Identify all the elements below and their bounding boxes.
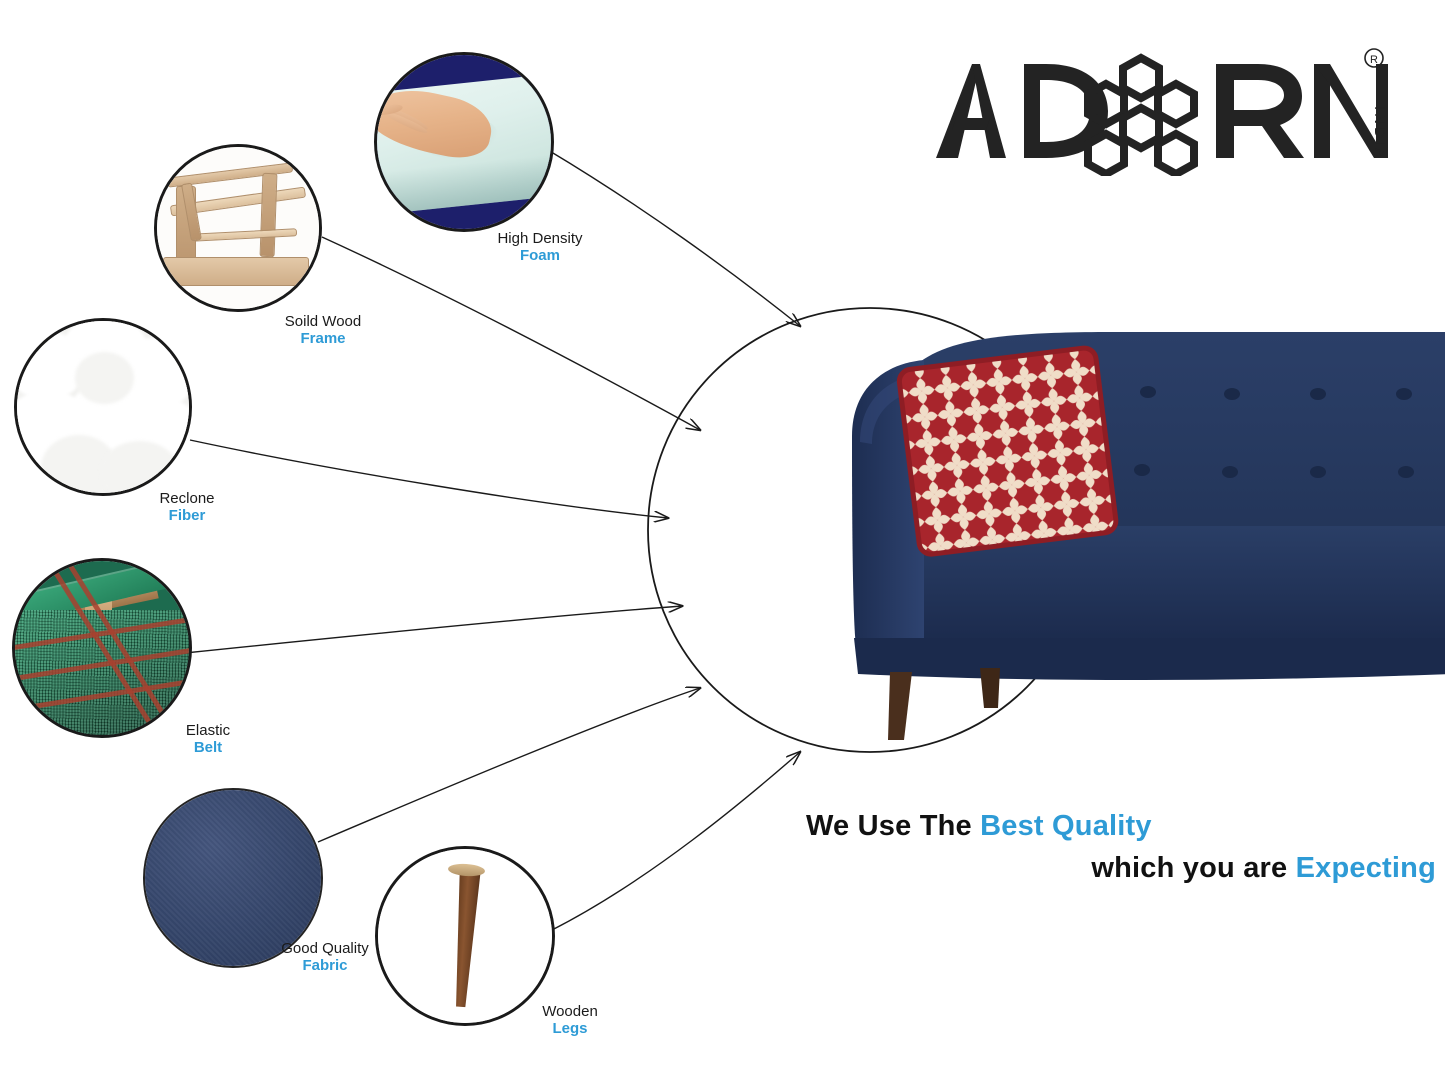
sofa-base	[854, 638, 1445, 680]
thumbnail-elastic-belt[interactable]	[12, 558, 192, 738]
tagline-line-2: which you are Expecting	[806, 852, 1436, 885]
tagline-line1-highlight: Best Quality	[980, 810, 1152, 842]
svg-text:R: R	[1370, 54, 1378, 66]
infographic-canvas: High Density Foam Soild Wood Frame Reclo…	[0, 0, 1445, 1084]
tagline-line2-plain: which you are	[1091, 852, 1295, 884]
feature-label-line2: Belt	[148, 739, 268, 756]
label-solid-wood-frame: Soild Wood Frame	[248, 313, 398, 348]
connector-fiber	[190, 440, 668, 518]
feature-label-line1: Wooden	[505, 1003, 635, 1020]
feature-label-line1: High Density	[460, 230, 620, 247]
tagline-line2-highlight: Expecting	[1296, 852, 1436, 884]
throw-pillow	[898, 347, 1117, 556]
tagline: We Use The Best Quality which you are Ex…	[806, 810, 1436, 885]
tagline-line-1: We Use The Best Quality	[806, 810, 1436, 843]
feature-label-line1: Elastic	[148, 722, 268, 739]
feature-label-line1: Reclone	[122, 490, 252, 507]
connector-fabric	[318, 688, 700, 842]
logo-india-text: INDIA	[1371, 106, 1388, 161]
feature-label-line2: Legs	[505, 1020, 635, 1037]
registered-trademark-icon: R	[1365, 49, 1383, 67]
sofa-leg-front	[888, 672, 912, 740]
connector-belt	[185, 606, 682, 653]
thumbnail-high-density-foam[interactable]	[374, 52, 554, 232]
brand-logo: INDIA R	[928, 46, 1388, 176]
tagline-line1-plain: We Use The	[806, 810, 980, 842]
feature-label-line2: Frame	[248, 330, 398, 347]
thumbnail-solid-wood-frame[interactable]	[154, 144, 322, 312]
thumbnail-reclone-fiber[interactable]	[14, 318, 192, 496]
label-wooden-legs: Wooden Legs	[505, 1003, 635, 1038]
thumbnail-wooden-legs[interactable]	[375, 846, 555, 1026]
product-sofa-image	[812, 316, 1445, 756]
feature-label-line2: Fiber	[122, 507, 252, 524]
sofa-leg-back	[980, 668, 1000, 708]
label-high-density-foam: High Density Foam	[460, 230, 620, 265]
feature-label-line2: Foam	[460, 247, 620, 264]
feature-label-line1: Soild Wood	[248, 313, 398, 330]
label-elastic-belt: Elastic Belt	[148, 722, 268, 757]
connector-legs	[552, 752, 800, 930]
label-reclone-fiber: Reclone Fiber	[122, 490, 252, 525]
